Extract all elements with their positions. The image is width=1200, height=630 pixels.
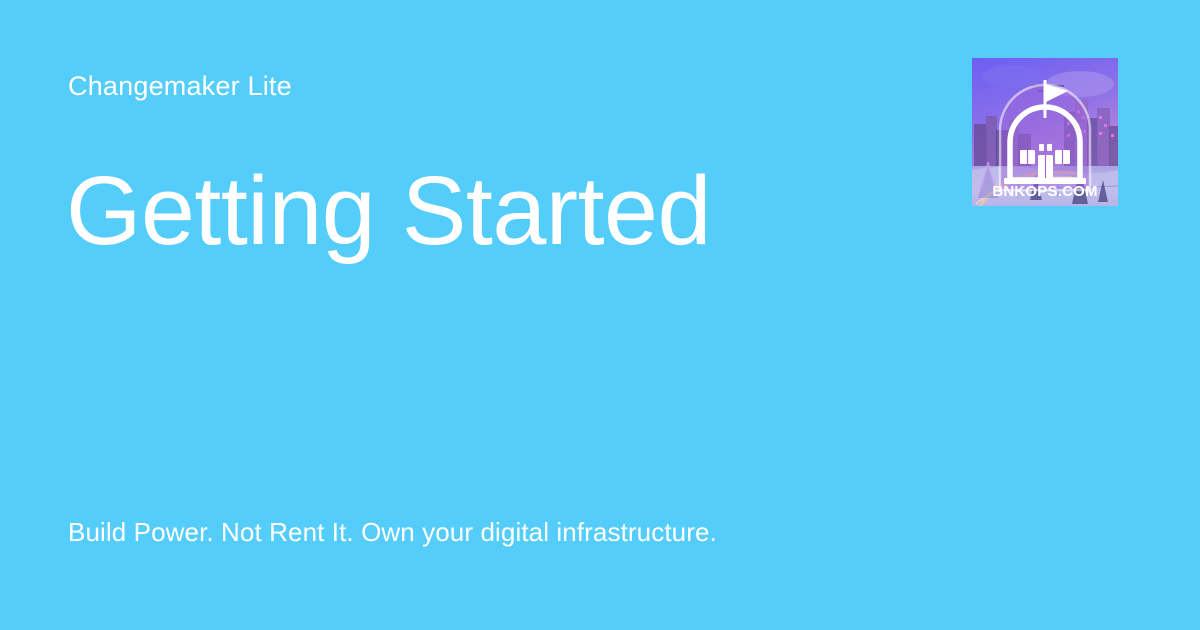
eyebrow-label: Changemaker Lite bbox=[68, 70, 292, 104]
bnkops-logo: BNKOPS.COM bbox=[972, 58, 1118, 206]
tagline: Build Power. Not Rent It. Own your digit… bbox=[68, 516, 717, 550]
page-title: Getting Started bbox=[66, 160, 711, 262]
og-card: Changemaker Lite Getting Started Build P… bbox=[0, 0, 1200, 630]
logo-wordmark: BNKOPS.COM bbox=[992, 183, 1097, 200]
